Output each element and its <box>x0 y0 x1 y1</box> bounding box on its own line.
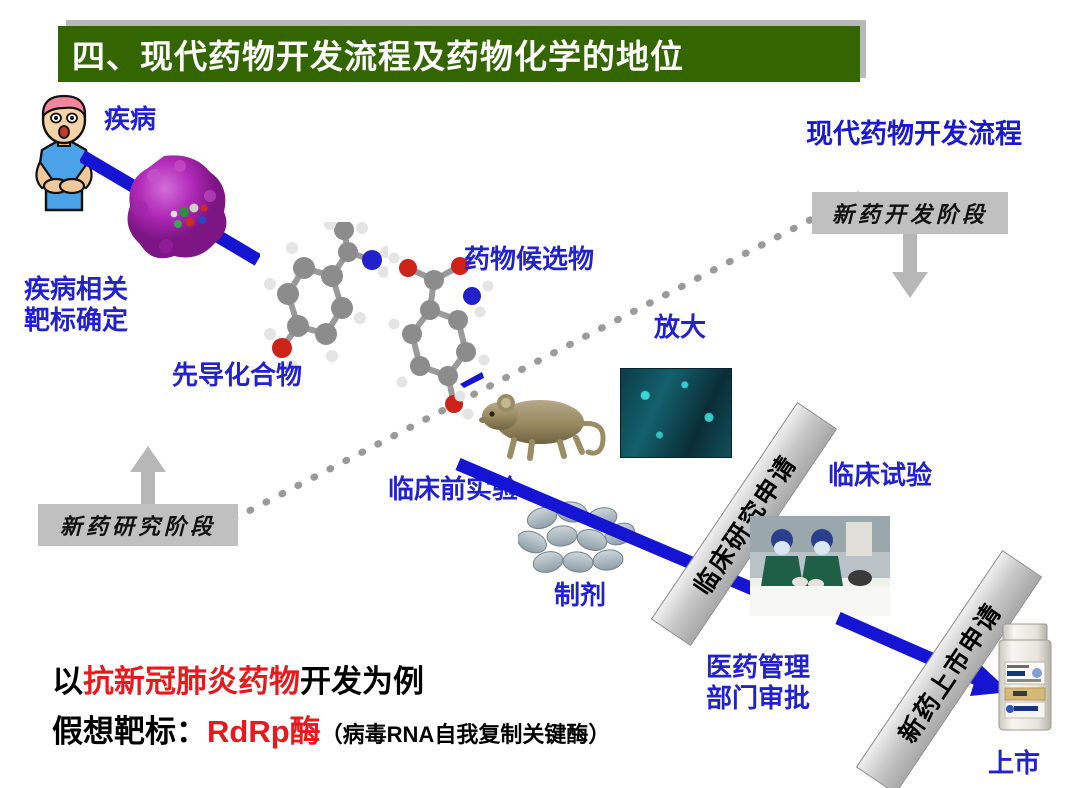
arrow-research-stage-up <box>128 444 168 510</box>
label-target-identification: 疾病相关 靶标确定 <box>24 274 128 335</box>
slide-canvas: 四、现代药物开发流程及药物化学的地位 现代药物开发流程 疾病 <box>0 0 1080 788</box>
bottom-note-line-2: 假想靶标：RdRp酶（病毒RNA自我复制关键酶） <box>52 706 610 751</box>
slide-title-bar: 四、现代药物开发流程及药物化学的地位 <box>58 26 860 82</box>
section-heading: 现代药物开发流程 <box>806 112 1022 151</box>
bottom-line2-prefix: 假想靶标： <box>52 714 207 749</box>
page-title: 四、现代药物开发流程及药物化学的地位 <box>72 30 684 78</box>
label-market: 上市 <box>988 748 1040 779</box>
label-scale-up: 放大 <box>654 312 706 343</box>
bottom-line1-highlight: 抗新冠肺炎药物 <box>83 664 300 699</box>
lead-compound-molecule <box>248 222 388 382</box>
bottom-line2-suffix: （病毒RNA自我复制关键酶） <box>321 722 611 747</box>
stage-box-development: 新药开发阶段 <box>812 192 1008 234</box>
label-lead-compound: 先导化合物 <box>172 360 302 391</box>
label-regulatory-approval: 医药管理 部门审批 <box>706 652 810 713</box>
protein-surface-model <box>118 150 238 270</box>
label-disease: 疾病 <box>104 104 156 135</box>
stage-box-development-label: 新药开发阶段 <box>832 197 988 229</box>
label-clinical-trial: 临床试验 <box>828 460 932 491</box>
bottom-line1-prefix: 以 <box>52 664 83 699</box>
stage-box-research-label: 新药研究阶段 <box>60 509 216 541</box>
bottom-note-line-1: 以抗新冠肺炎药物开发为例 <box>52 656 424 701</box>
clinical-trial-photo <box>750 516 890 616</box>
bottom-line1-suffix: 开发为例 <box>300 664 424 699</box>
manufacturing-plant-photo <box>620 368 732 458</box>
stage-box-research: 新药研究阶段 <box>38 504 238 546</box>
arrow-development-stage-down <box>890 234 930 300</box>
label-drug-candidate: 药物候选物 <box>464 244 594 275</box>
medicine-bottle-photo <box>990 622 1060 734</box>
laboratory-mouse <box>474 386 614 462</box>
bottom-line2-highlight: RdRp酶 <box>207 714 321 749</box>
